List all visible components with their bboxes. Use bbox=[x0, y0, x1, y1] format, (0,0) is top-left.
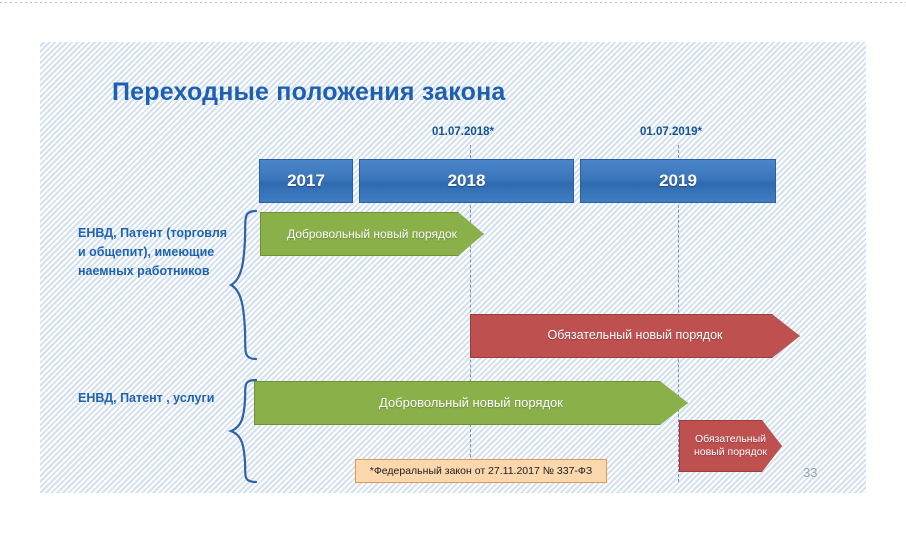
category-label-group-2: ЕНВД, Патент , услуги bbox=[78, 389, 233, 408]
bar-mandatory-group-1[interactable]: Обязательный новый порядок bbox=[470, 314, 800, 358]
date-marker-label-2018: 01.07.2018* bbox=[432, 126, 494, 138]
page-title: Переходные положения закона bbox=[112, 78, 506, 107]
date-marker-label-2019: 01.07.2019* bbox=[640, 126, 702, 138]
year-bar-label: 2017 bbox=[287, 171, 325, 191]
bar-label: Обязательный новый порядок bbox=[541, 328, 728, 344]
bar-label: Добровольный новый порядок bbox=[373, 395, 569, 411]
year-bar-2019[interactable]: 2019 bbox=[580, 159, 776, 203]
year-bar-2017[interactable]: 2017 bbox=[259, 159, 353, 203]
slide-canvas: Переходные положения закона 01.07.2018* … bbox=[40, 42, 866, 493]
bar-label: Обязательный новый порядок bbox=[680, 433, 781, 459]
bar-label: Добровольный новый порядок bbox=[281, 227, 463, 242]
slide-screenshot: Переходные положения закона 01.07.2018* … bbox=[0, 0, 906, 544]
footnote-text: *Федеральный закон от 27.11.2017 № 337-Ф… bbox=[370, 465, 593, 477]
year-bar-label: 2018 bbox=[448, 171, 486, 191]
bar-voluntary-group-1[interactable]: Добровольный новый порядок bbox=[260, 212, 484, 256]
footnote-box: *Федеральный закон от 27.11.2017 № 337-Ф… bbox=[355, 459, 607, 483]
bar-voluntary-group-2[interactable]: Добровольный новый порядок bbox=[254, 381, 688, 425]
brace-group-1 bbox=[228, 209, 260, 361]
page-number: 33 bbox=[803, 465, 817, 480]
category-label-group-1: ЕНВД, Патент (торговля и общепит), имеющ… bbox=[78, 224, 228, 281]
bar-mandatory-group-2[interactable]: Обязательный новый порядок bbox=[679, 420, 782, 472]
year-bar-2018[interactable]: 2018 bbox=[359, 159, 574, 203]
top-divider-rule bbox=[0, 2, 906, 3]
year-bar-label: 2019 bbox=[659, 171, 697, 191]
